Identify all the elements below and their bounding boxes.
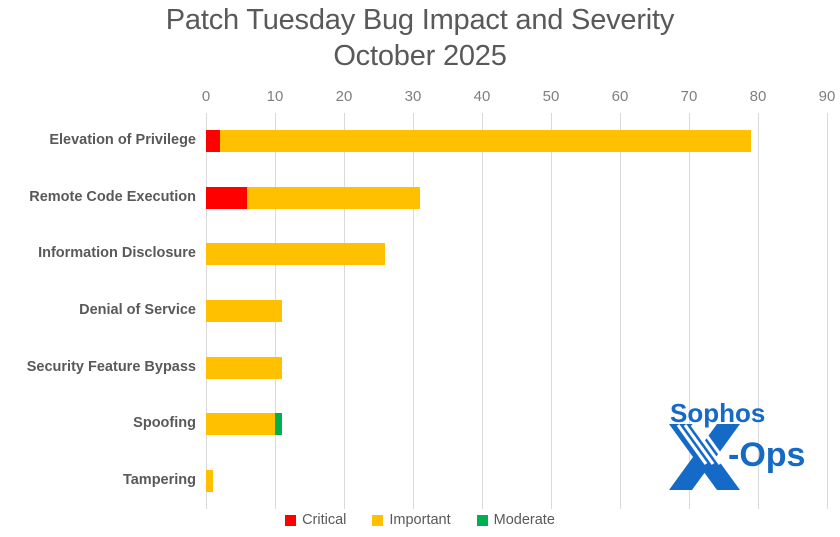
legend-swatch-moderate bbox=[477, 515, 488, 526]
category-label-denial-of-service: Denial of Service bbox=[0, 302, 196, 318]
bar-segment-important bbox=[206, 470, 213, 492]
legend-swatch-important bbox=[372, 515, 383, 526]
x-tick-label-0: 0 bbox=[202, 88, 210, 105]
x-tick-label-90: 90 bbox=[819, 88, 836, 105]
bar-row bbox=[206, 187, 420, 209]
category-label-security-feature-bypass: Security Feature Bypass bbox=[0, 359, 196, 375]
x-tick-label-20: 20 bbox=[336, 88, 353, 105]
category-label-tampering: Tampering bbox=[0, 472, 196, 488]
x-tick-label-60: 60 bbox=[612, 88, 629, 105]
x-tick-label-70: 70 bbox=[681, 88, 698, 105]
bar-row bbox=[206, 357, 282, 379]
legend-label-critical: Critical bbox=[302, 512, 346, 528]
category-label-information-disclosure: Information Disclosure bbox=[0, 245, 196, 261]
bar-row bbox=[206, 130, 751, 152]
bar-row bbox=[206, 300, 282, 322]
logo-sophos-text: Sophos bbox=[670, 398, 765, 428]
bar-segment-important bbox=[220, 130, 751, 152]
bar-row bbox=[206, 413, 282, 435]
bar-segment-important bbox=[206, 357, 282, 379]
bar-segment-important bbox=[247, 187, 420, 209]
sophos-x-ops-logo: Sophos -Ops bbox=[662, 394, 828, 494]
legend-item-moderate[interactable]: Moderate bbox=[477, 512, 555, 528]
bar-row bbox=[206, 470, 213, 492]
bar-chart: Patch Tuesday Bug Impact and Severity Oc… bbox=[0, 0, 840, 537]
category-label-spoofing: Spoofing bbox=[0, 415, 196, 431]
x-tick-label-40: 40 bbox=[474, 88, 491, 105]
legend-item-important[interactable]: Important bbox=[372, 512, 450, 528]
chart-title-line-2: October 2025 bbox=[0, 38, 840, 74]
bar-segment-critical bbox=[206, 187, 247, 209]
x-tick-label-30: 30 bbox=[405, 88, 422, 105]
logo-ops-text: -Ops bbox=[728, 436, 805, 474]
x-axis-tick-labels: 0102030405060708090 bbox=[0, 88, 840, 108]
bar-segment-moderate bbox=[275, 413, 282, 435]
chart-title-line-1: Patch Tuesday Bug Impact and Severity bbox=[166, 4, 674, 36]
chart-title: Patch Tuesday Bug Impact and Severity Oc… bbox=[0, 2, 840, 74]
category-label-remote-code-execution: Remote Code Execution bbox=[0, 189, 196, 205]
legend-item-critical[interactable]: Critical bbox=[285, 512, 346, 528]
bar-row bbox=[206, 243, 385, 265]
x-tick-label-10: 10 bbox=[267, 88, 284, 105]
bar-segment-important bbox=[206, 413, 275, 435]
bar-segment-critical bbox=[206, 130, 220, 152]
y-axis-category-labels: Elevation of PrivilegeRemote Code Execut… bbox=[0, 113, 196, 509]
chart-legend: CriticalImportantModerate bbox=[0, 512, 840, 528]
legend-label-moderate: Moderate bbox=[494, 512, 555, 528]
legend-swatch-critical bbox=[285, 515, 296, 526]
bar-segment-important bbox=[206, 300, 282, 322]
bar-segment-important bbox=[206, 243, 385, 265]
x-tick-label-80: 80 bbox=[750, 88, 767, 105]
legend-label-important: Important bbox=[389, 512, 450, 528]
category-label-elevation-of-privilege: Elevation of Privilege bbox=[0, 132, 196, 148]
x-tick-label-50: 50 bbox=[543, 88, 560, 105]
